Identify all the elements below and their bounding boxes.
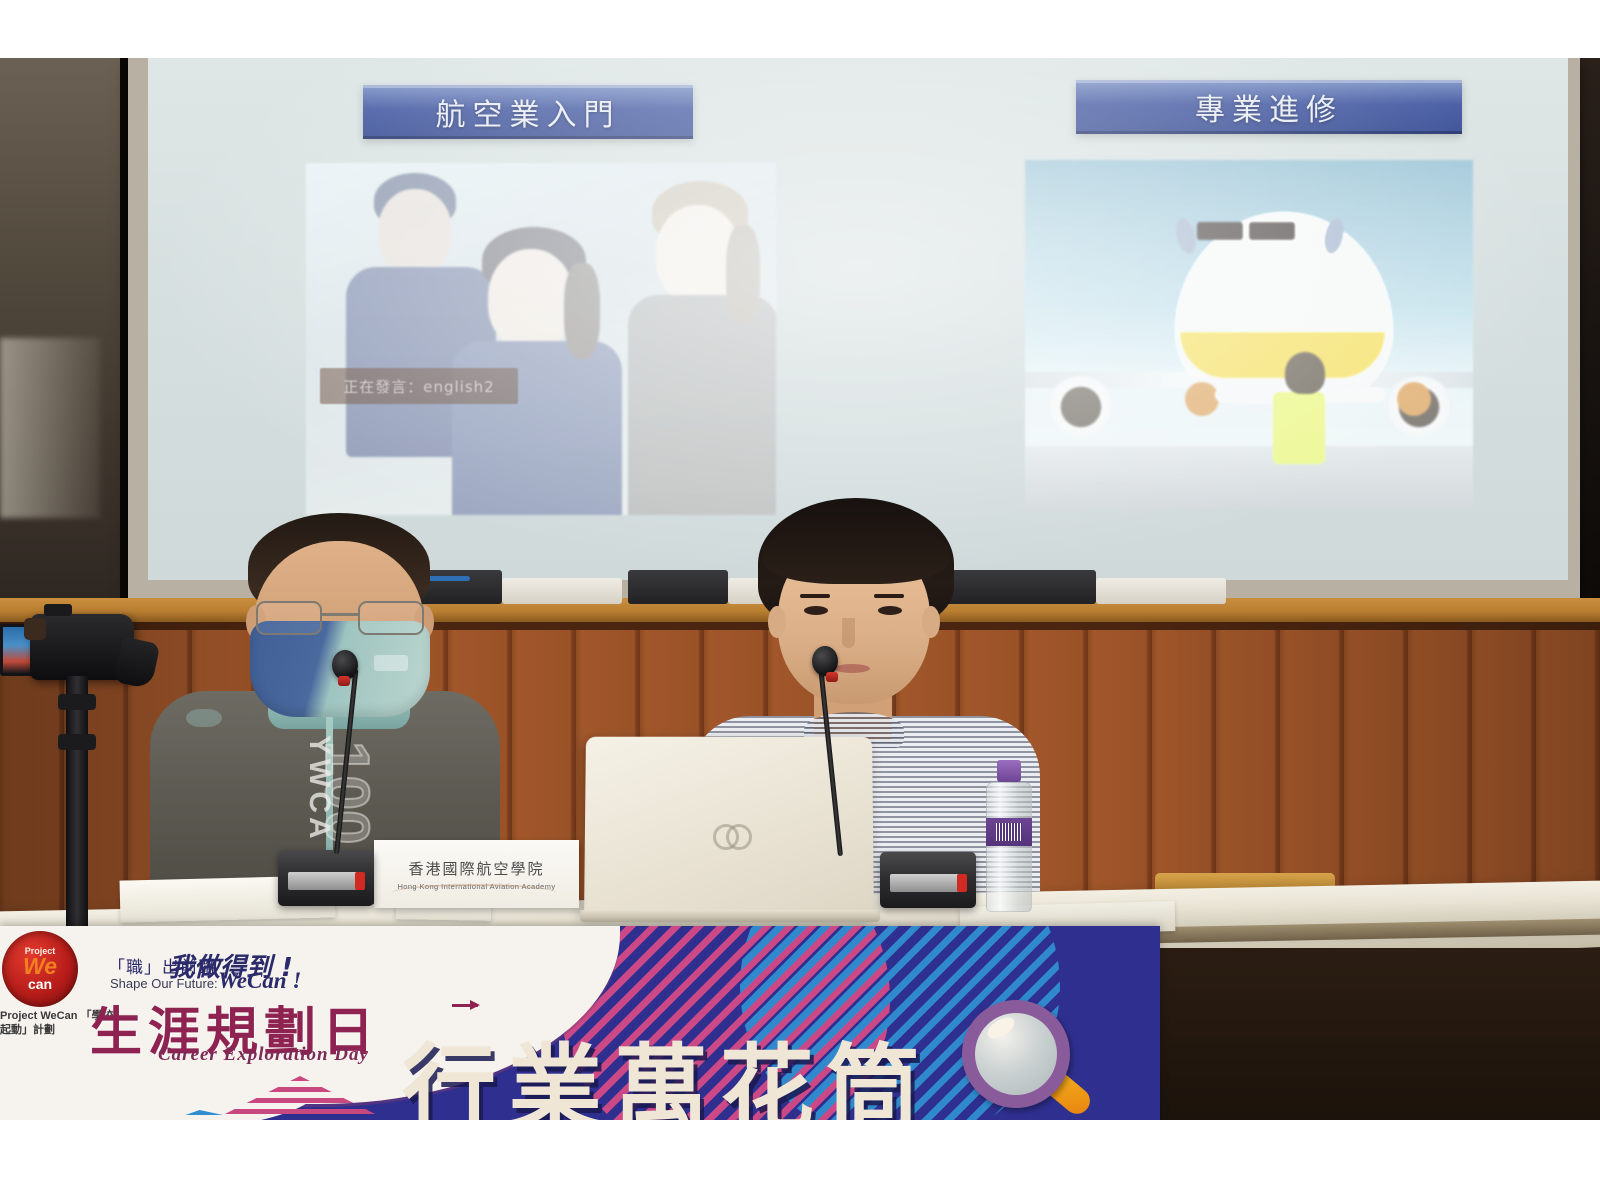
wecan-logo-can-word: can — [28, 977, 52, 991]
mic-base-panel-left — [288, 872, 358, 890]
mic-indicator-ring-right — [826, 672, 838, 682]
slide-header-professional: 專業進修 — [1076, 80, 1462, 134]
banner-main-headline: 行業萬花筒 — [402, 1043, 932, 1120]
bottle-cap — [997, 760, 1021, 782]
project-wecan-logo: Project We can — [2, 931, 78, 1007]
bottle-label — [986, 818, 1032, 846]
microphone-base-right[interactable] — [880, 852, 976, 908]
tripod-knob-lower — [58, 734, 96, 750]
mic-base-panel-right — [890, 874, 960, 892]
letterbox-top — [0, 0, 1600, 58]
panelist-right-mouth — [834, 664, 870, 673]
panelist-right-ear-right — [922, 606, 940, 638]
banner-tagline-english: Shape Our Future: — [110, 976, 218, 991]
left-doorway — [0, 58, 140, 603]
banner-arrow-icon — [452, 1004, 478, 1007]
slide-image-trainees — [306, 163, 776, 515]
slide-header-intro: 航空業入門 — [363, 85, 693, 139]
eyeglass-lens-left — [256, 601, 322, 635]
panelist-right-brow-left — [800, 594, 830, 598]
panelist-right-nose — [842, 618, 855, 648]
marshalling-wand-left — [1185, 382, 1219, 416]
fujitsu-logo-icon — [713, 824, 751, 846]
ledge-equipment-f — [1096, 578, 1226, 604]
ledge-equipment-b — [502, 578, 622, 604]
mic-indicator-ring-left — [338, 676, 350, 686]
jacket-logo-icon — [186, 709, 222, 727]
slide-header-intro-label: 航空業入門 — [436, 90, 621, 134]
eyeglass-lens-right — [358, 601, 424, 635]
aircraft-engine-left — [1047, 376, 1115, 438]
panelist-right-ear-left — [768, 606, 786, 638]
marshaller-head — [1285, 352, 1325, 394]
water-bottle[interactable] — [986, 760, 1032, 912]
marshalling-wand-right — [1397, 382, 1431, 416]
camera-hotshoe — [44, 604, 72, 616]
mic-led-right — [957, 874, 967, 892]
letterbox-bottom — [0, 1120, 1600, 1200]
slide-subtitle-overlay: 正在發言：english2 — [320, 368, 518, 404]
panelist-right-eye-left — [804, 606, 828, 615]
mic-led-left — [355, 872, 365, 890]
cockpit-window-left — [1197, 222, 1243, 240]
conference-photo: 航空業入門 — [0, 58, 1600, 1120]
screenshot-root: 航空業入門 — [0, 0, 1600, 1200]
magnifier-lens — [975, 1013, 1057, 1095]
nameplate-english: Hong Kong International Aviation Academy — [397, 882, 555, 891]
microphone-base-left[interactable] — [278, 850, 374, 906]
banner-title-english: Career Exploration Day — [158, 1044, 369, 1066]
slide-header-professional-label: 專業進修 — [1195, 85, 1343, 129]
panelist-right-eye-right — [878, 606, 902, 615]
marshaller-hivis-vest — [1273, 392, 1325, 464]
tripod-knob-upper — [58, 694, 96, 710]
eyeglasses-icon — [254, 601, 426, 635]
wecan-logo-w-word: We — [23, 956, 57, 977]
nameplate-chinese: 香港國際航空學院 — [408, 858, 544, 879]
eyeglass-bridge — [322, 613, 358, 616]
magnifier-icon — [962, 1000, 1070, 1108]
nameplate: 香港國際航空學院 Hong Kong International Aviatio… — [374, 840, 579, 908]
cockpit-window-right — [1249, 222, 1295, 240]
aircraft-yellow-livery — [1180, 332, 1385, 378]
table-underside-shadow — [1130, 948, 1600, 1120]
bottle-body — [986, 782, 1032, 912]
camera-viewfinder — [24, 618, 46, 640]
panelist-right-brow-right — [874, 594, 904, 598]
cockpit-window-outer-left — [1173, 216, 1199, 255]
slide-subtitle-text: 正在發言：english2 — [343, 376, 494, 397]
panelist-right-fringe — [762, 522, 950, 584]
tarmac — [1025, 446, 1473, 510]
slide-image-aircraft — [1025, 160, 1473, 510]
